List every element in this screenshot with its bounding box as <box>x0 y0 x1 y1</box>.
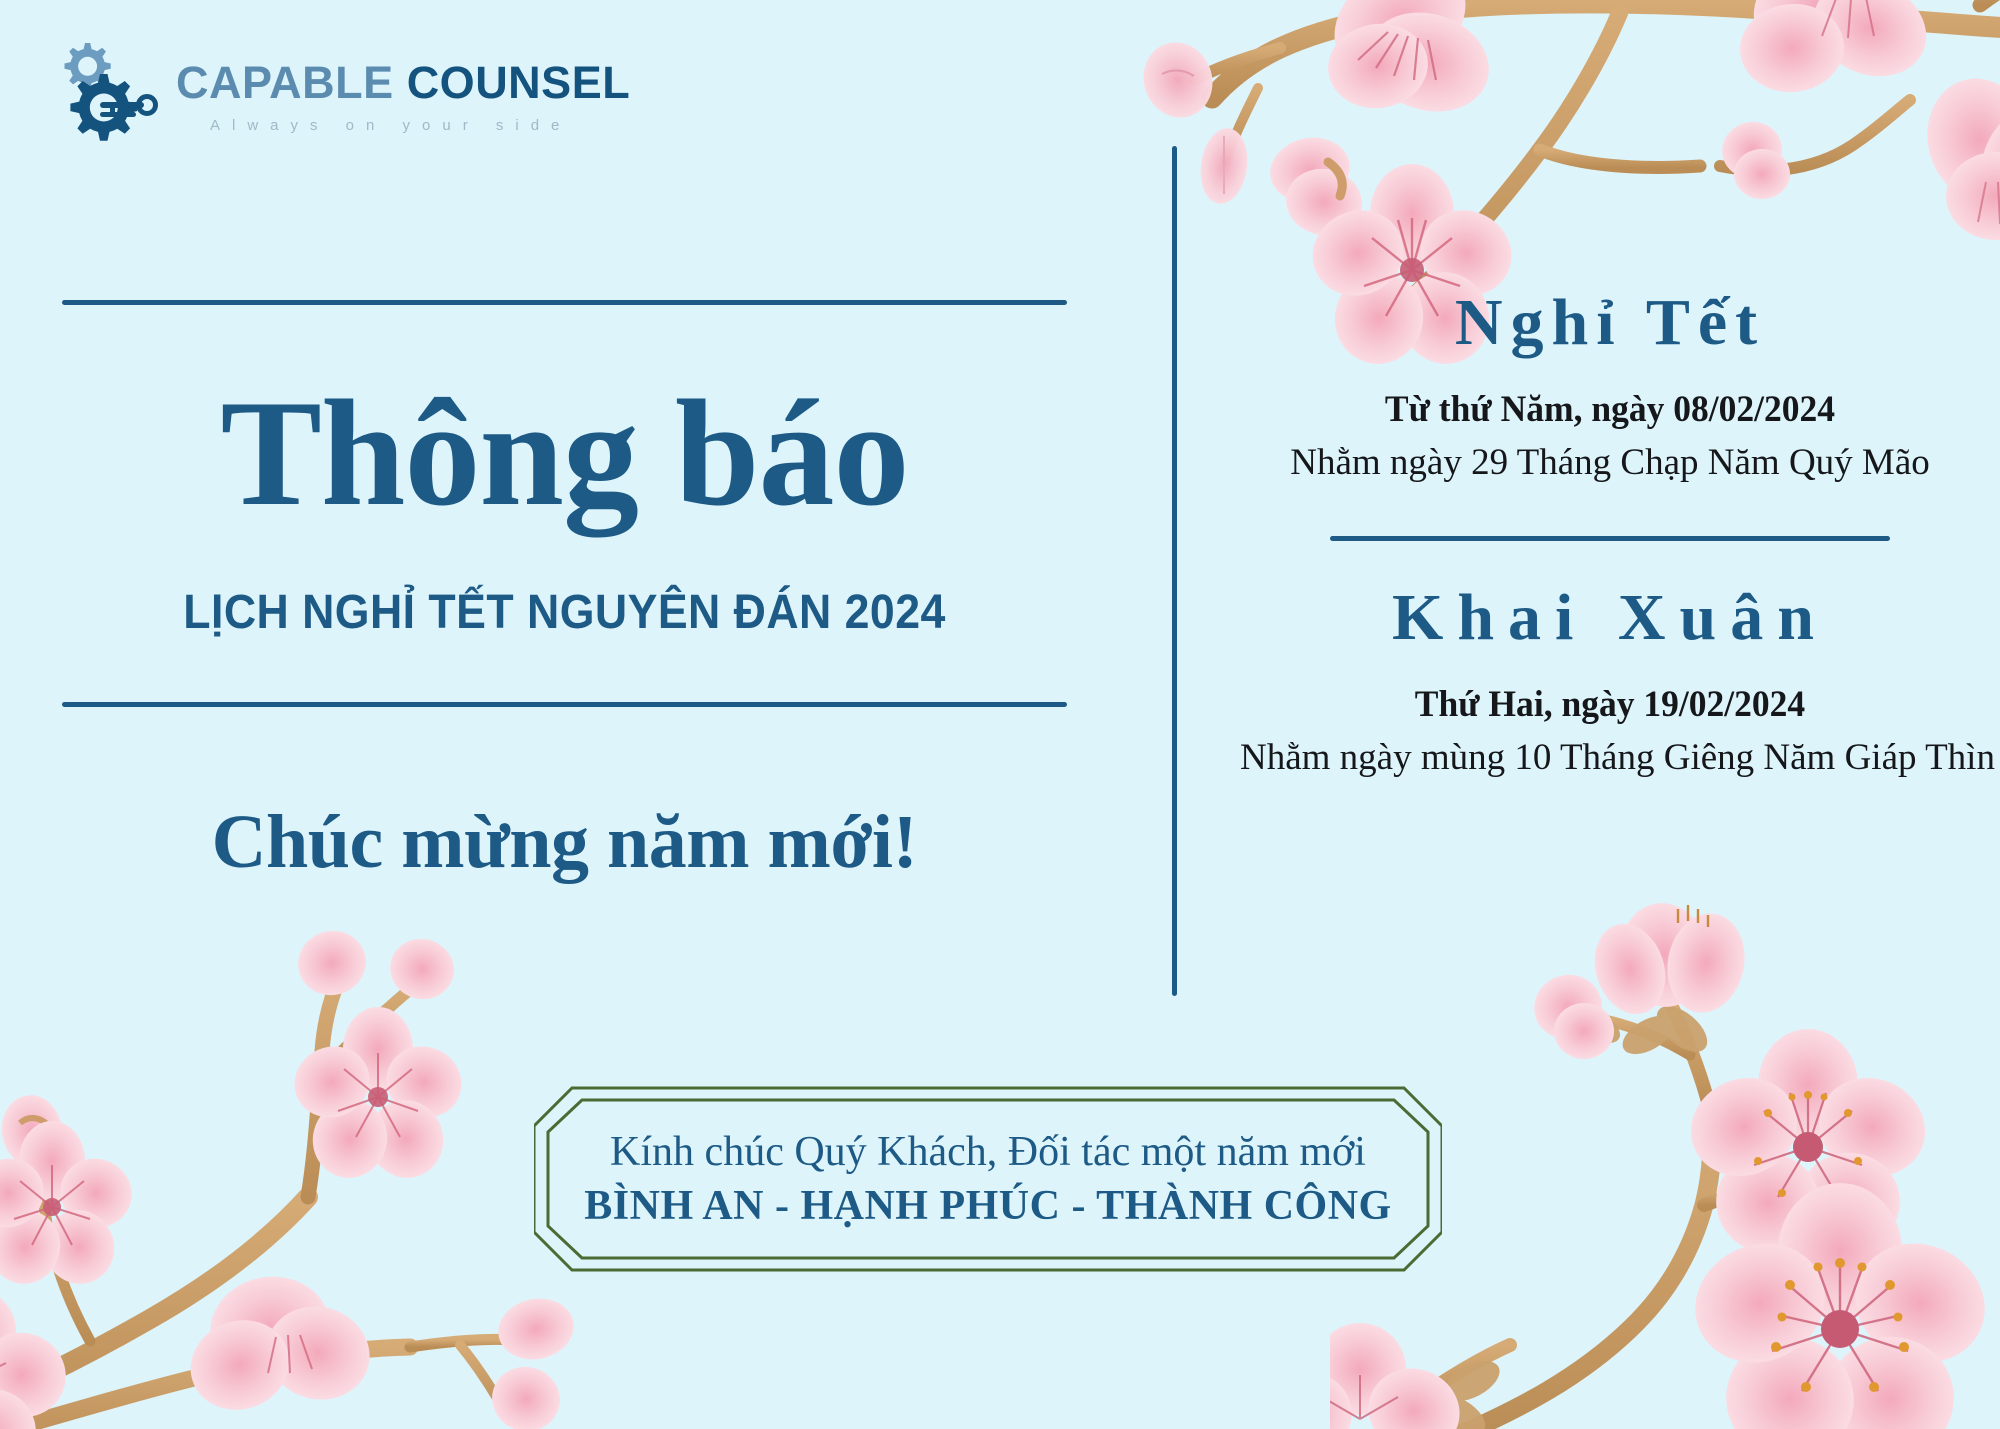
page-title: Thông báo <box>62 377 1067 529</box>
holiday-block-title: Khai Xuân <box>1240 581 1980 655</box>
holiday-block-khai-xuan: Khai Xuân Thứ Hai, ngày 19/02/2024 Nhằm … <box>1240 581 1980 779</box>
holiday-lunar-date: Nhằm ngày mùng 10 Tháng Giêng Năm Giáp T… <box>1240 736 1980 779</box>
logo-company-name: CAPABLE COUNSEL <box>176 60 630 105</box>
logo-tagline: Always on your side <box>210 117 630 134</box>
vertical-divider <box>1172 146 1177 996</box>
greeting-frame-box: Kính chúc Quý Khách, Đối tác một năm mới… <box>534 1086 1442 1272</box>
holiday-lunar-date: Nhằm ngày 29 Tháng Chạp Năm Quý Mão <box>1240 441 1980 484</box>
greeting-line-1: Kính chúc Quý Khách, Đối tác một năm mới <box>610 1128 1366 1176</box>
right-panel: Nghỉ Tết Từ thứ Năm, ngày 08/02/2024 Nhằ… <box>1240 286 1980 779</box>
new-year-greeting: Chúc mừng năm mới! <box>62 799 1067 886</box>
holiday-solar-date: Thứ Hai, ngày 19/02/2024 <box>1255 683 1965 726</box>
greeting-line-2: BÌNH AN - HẠNH PHÚC - THÀNH CÔNG <box>584 1182 1391 1230</box>
left-rule-top <box>62 300 1067 305</box>
logo-word-capable: CAPABLE <box>176 57 394 108</box>
poster-canvas: CAPABLE COUNSEL Always on your side Thôn… <box>0 0 2000 1429</box>
logo-word-counsel: COUNSEL <box>407 57 631 108</box>
left-rule-bottom <box>62 702 1067 707</box>
holiday-block-nghi-tet: Nghỉ Tết Từ thứ Năm, ngày 08/02/2024 Nhằ… <box>1240 286 1980 484</box>
page-subtitle: LỊCH NGHỈ TẾT NGUYÊN ĐÁN 2024 <box>97 585 1032 640</box>
holiday-solar-date: Từ thứ Năm, ngày 08/02/2024 <box>1255 388 1965 431</box>
left-panel: Thông báo LỊCH NGHỈ TẾT NGUYÊN ĐÁN 2024 … <box>62 300 1067 886</box>
greeting-text-wrap: Kính chúc Quý Khách, Đối tác một năm mới… <box>534 1086 1442 1272</box>
cherry-blossom-branch-bottom-left <box>0 929 580 1429</box>
brand-logo: CAPABLE COUNSEL Always on your side <box>48 38 630 148</box>
holiday-block-title: Nghỉ Tết <box>1240 286 1980 360</box>
gears-key-icon <box>48 38 158 148</box>
right-rule-divider <box>1330 536 1890 541</box>
